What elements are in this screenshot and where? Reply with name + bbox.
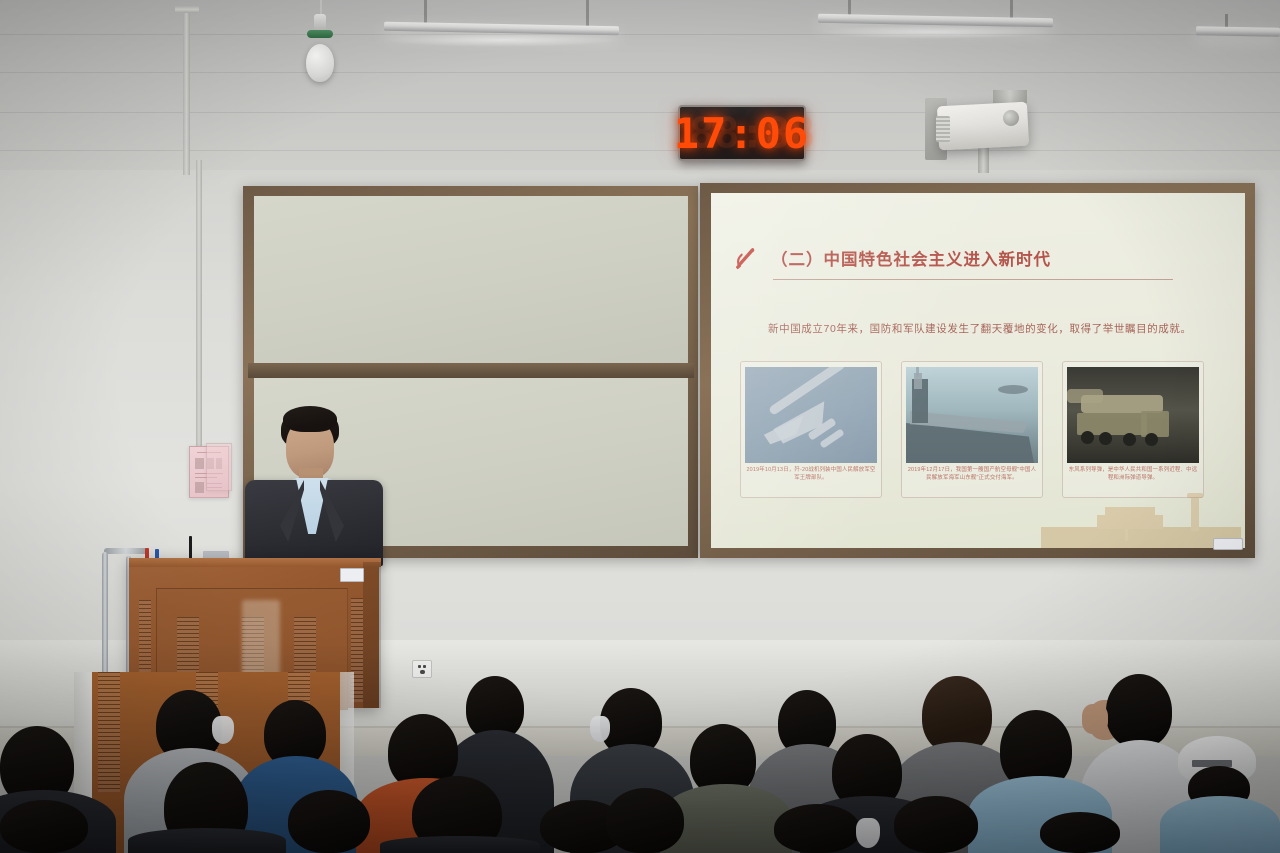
slide-body-text: 新中国成立70年来，国防和军队建设发生了翻天覆地的变化，取得了举世瞩目的成就。 — [768, 321, 1192, 336]
slide-title-row: （二）中国特色社会主义进入新时代 — [733, 245, 1051, 271]
projector-vent — [936, 116, 950, 142]
photo-caption-carrier: 2019年12月17日，我国第一艘国产航空母舰"中国人民解放军海军山东舰"正式交… — [906, 467, 1038, 483]
wall-power-outlet[interactable] — [412, 660, 432, 678]
photo-card-j20: 2019年10月13日，歼-20战机列装中国人民解放军空军王牌部队。 — [740, 361, 882, 498]
face-mask — [212, 716, 234, 744]
photo-caption-missiles: 东风系列导弹，是中华人民共和国一系列近程、中远程和洲际弹道导弹。 — [1067, 467, 1199, 483]
presenter-hair-top — [283, 406, 337, 432]
student-head — [1106, 674, 1172, 748]
student-head — [1040, 812, 1120, 853]
lecture-hall-photo: 88:88 17:06 （二）中国特色社会主义进入新时代 — [0, 0, 1280, 853]
party-emblem-icon — [733, 245, 759, 271]
student-shoulders — [380, 836, 540, 853]
student-head — [606, 788, 684, 853]
ceiling-conduit-pipe — [183, 8, 190, 175]
projection-screen: （二）中国特色社会主义进入新时代 新中国成立70年来，国防和军队建设发生了翻天覆… — [711, 193, 1245, 548]
screen-id-label — [1213, 538, 1243, 550]
sensor-cap — [314, 14, 326, 30]
slide-title-underline — [773, 279, 1173, 280]
tiananmen-gate-illustration — [1041, 493, 1241, 548]
clock-ghost-digits: 88:88 — [689, 109, 815, 158]
projector-lens-icon — [1003, 110, 1019, 126]
face-mask — [856, 818, 880, 848]
photo-dongfeng-missiles — [1067, 367, 1199, 463]
ceiling — [0, 0, 1280, 175]
photo-aircraft-carrier — [906, 367, 1038, 463]
photo-card-carrier: 2019年12月17日，我国第一艘国产航空母舰"中国人民解放军海军山东舰"正式交… — [901, 361, 1043, 498]
podium-top-edge — [129, 558, 381, 567]
podium-right-bevel — [363, 562, 381, 708]
photo-j20-fighter — [745, 367, 877, 463]
wall-conduit-pipe — [196, 160, 202, 460]
digital-wall-clock: 88:88 17:06 — [678, 105, 806, 161]
student-head — [894, 796, 978, 853]
student-head — [0, 800, 88, 853]
student-shoulders — [1160, 796, 1280, 853]
photo-caption-j20: 2019年10月13日，歼-20战机列装中国人民解放军空军王牌部队。 — [745, 467, 877, 483]
student-head — [774, 804, 860, 853]
whiteboard-left-upper-surface — [254, 196, 688, 363]
face-mask — [590, 716, 610, 742]
wall-notice-poster-secondary — [206, 443, 232, 491]
whiteboard-left-divider — [248, 363, 694, 378]
student-shoulders — [128, 828, 286, 853]
slide-title: （二）中国特色社会主义进入新时代 — [771, 246, 1051, 270]
ceiling-conduit-bracket — [175, 6, 199, 13]
student-arm — [1082, 704, 1108, 734]
hanging-sensor-icon — [306, 44, 334, 82]
ceiling-projector — [937, 102, 1029, 151]
podium-scuff-mark — [242, 600, 280, 682]
podium-side-rail — [104, 548, 148, 554]
door-louver-panel-left — [98, 672, 120, 792]
ceiling-light-far-right — [1196, 26, 1280, 36]
student-head — [288, 790, 370, 853]
sensor-ring — [307, 30, 333, 38]
podium-equipment-label — [340, 568, 364, 582]
photo-card-missiles: 东风系列导弹，是中华人民共和国一系列近程、中远程和洲际弹道导弹。 — [1062, 361, 1204, 498]
